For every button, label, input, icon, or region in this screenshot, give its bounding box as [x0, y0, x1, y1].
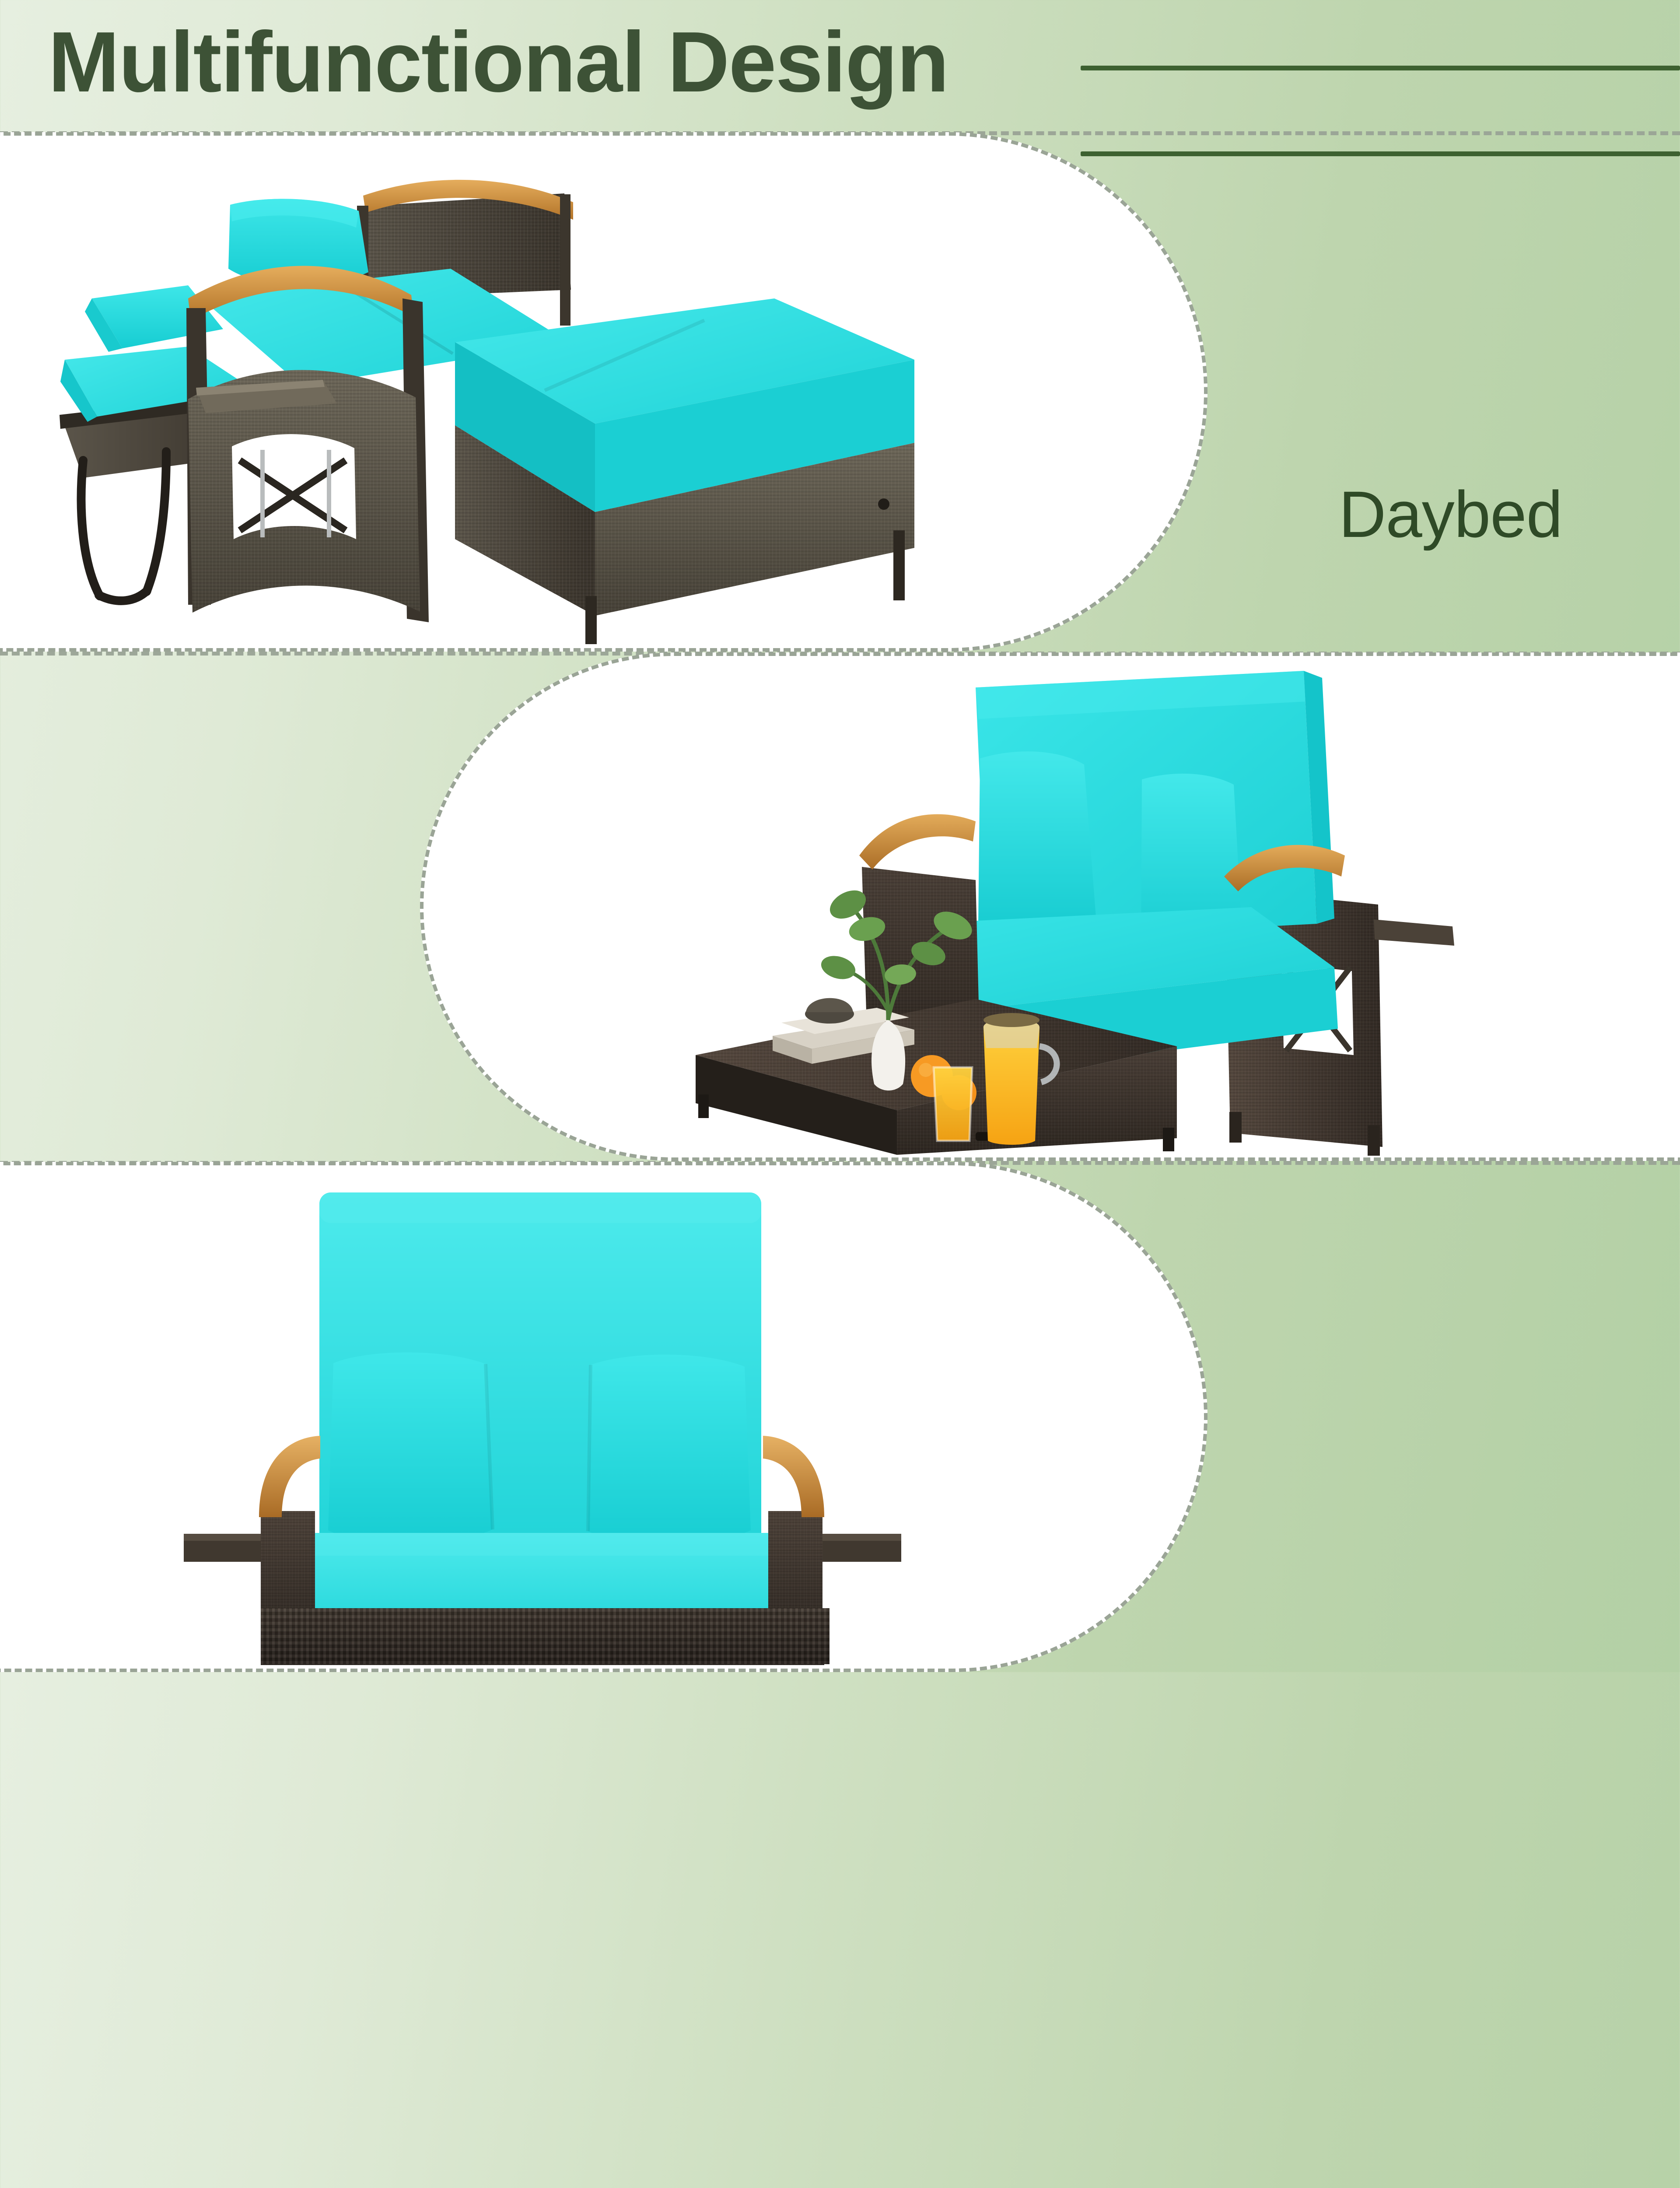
cushioned-loveseat-illustration — [184, 1175, 1054, 1665]
loveseat-storage-base — [261, 1608, 829, 1664]
panel-daybed: Daybed — [0, 132, 1680, 652]
daybed-illustration — [57, 154, 1032, 644]
panel-cushioned-loveseat: Cushioned Loveseat — [0, 1162, 1680, 1672]
page-header: Multifunctional Design — [0, 0, 1680, 132]
page-title: Multifunctional Design — [48, 19, 948, 105]
header-rule-top — [1081, 66, 1680, 70]
caption-daybed: Daybed — [1339, 476, 1562, 553]
loveseat-coffee-table-illustration — [669, 661, 1540, 1156]
panel-loveseat-coffee-table: Loveseat & Coffee Table Set — [0, 652, 1680, 1161]
